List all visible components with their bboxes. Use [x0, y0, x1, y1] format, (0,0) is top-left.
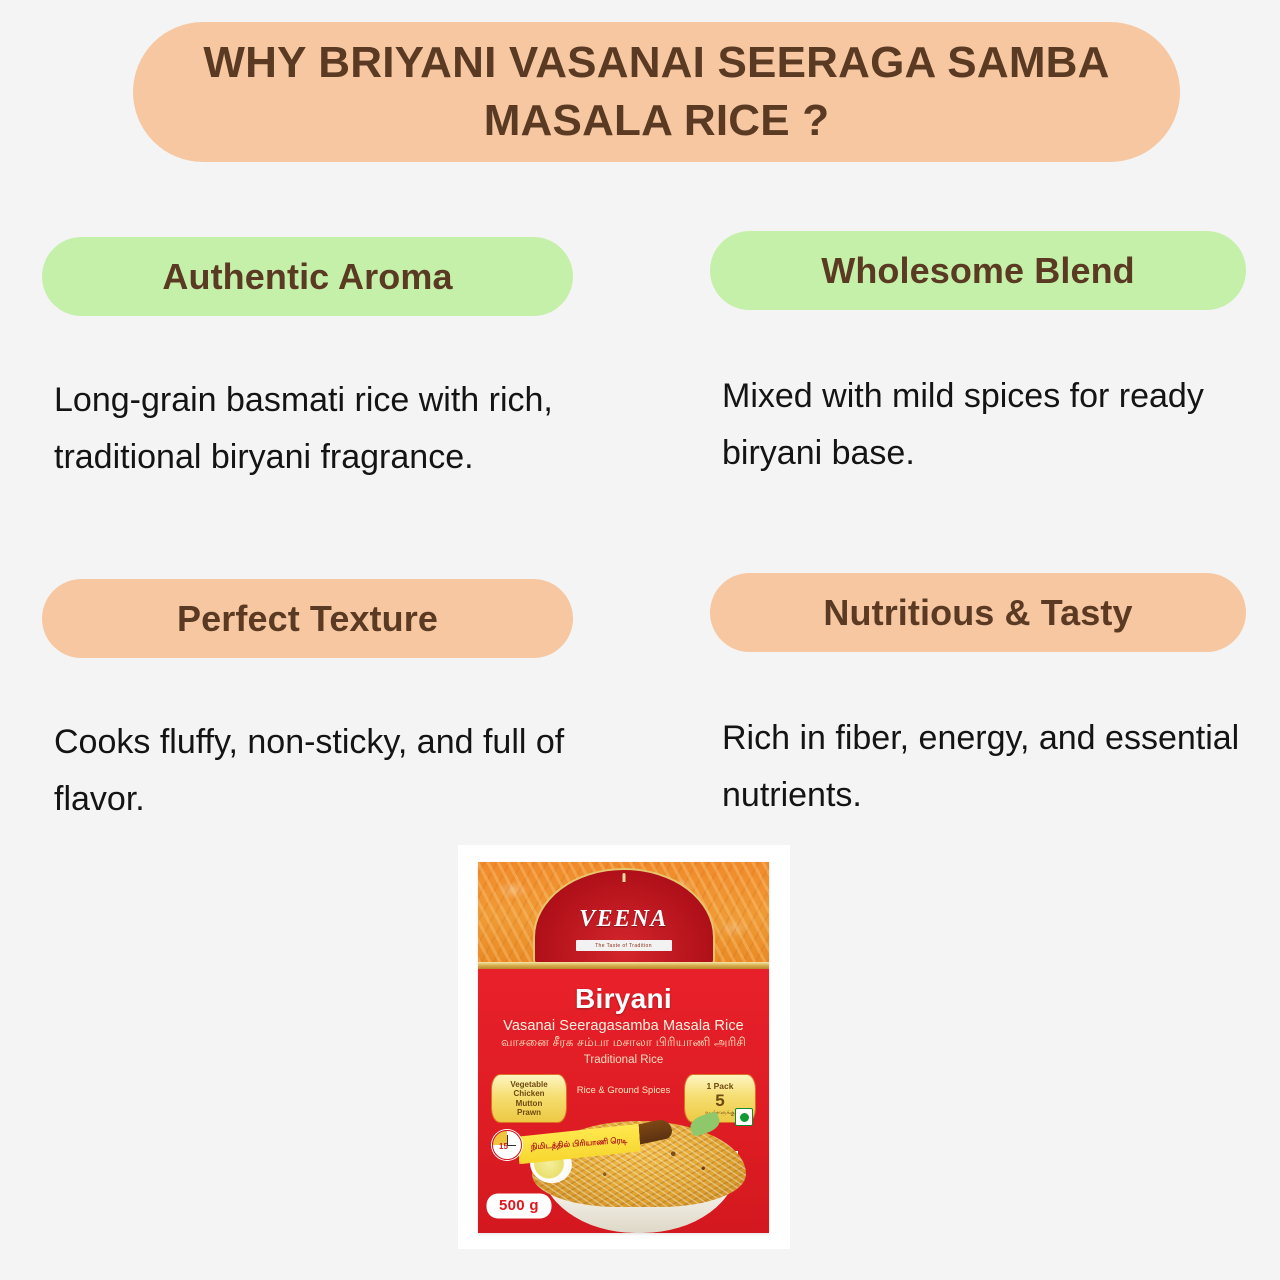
product-subtitle: Vasanai Seeragasamba Masala Rice — [478, 1018, 769, 1034]
feature-pill-nutritious-tasty: Nutritious & Tasty — [710, 573, 1246, 652]
vegetarian-mark-icon — [735, 1108, 753, 1126]
garnish-leaf — [688, 1111, 722, 1137]
clock-icon: 15 — [492, 1130, 522, 1160]
infographic-page: WHY BRIYANI VASANAI SEERAGA SAMBA MASALA… — [0, 0, 1280, 1280]
feature-label: Perfect Texture — [177, 598, 438, 640]
feature-card-perfect-texture: Perfect Texture Cooks fluffy, non-sticky… — [42, 579, 573, 828]
veg-dot-icon — [740, 1113, 749, 1122]
variant-item: Mutton — [516, 1099, 543, 1108]
product-package-image: VEENA The Taste of Tradition Biryani Vas… — [478, 862, 769, 1233]
product-subtitle-tamil: வாசனை சீரக சம்பா மசாலா பிரியாணி அரிசி — [478, 1035, 769, 1051]
arch-finial-icon — [622, 873, 625, 882]
page-title: WHY BRIYANI VASANAI SEERAGA SAMBA MASALA… — [133, 34, 1180, 150]
variant-item: Vegetable — [510, 1080, 547, 1089]
product-title: Biryani — [478, 983, 769, 1015]
brand-tagline: The Taste of Tradition — [576, 940, 672, 951]
feature-pill-perfect-texture: Perfect Texture — [42, 579, 573, 658]
feature-description: Mixed with mild spices for ready biryani… — [710, 368, 1246, 482]
feature-pill-authentic-aroma: Authentic Aroma — [42, 237, 573, 316]
serves-count: 5 — [715, 1092, 724, 1109]
feature-card-wholesome-blend: Wholesome Blend Mixed with mild spices f… — [710, 231, 1246, 482]
cooktime-banner-text: நிமிடத்தில் பிரியாணி ரெடி — [531, 1135, 628, 1152]
feature-description: Long-grain basmati rice with rich, tradi… — [42, 372, 573, 486]
net-weight-label: 500 g — [488, 1195, 550, 1217]
package-front-panel: Biryani Vasanai Seeragasamba Masala Rice… — [478, 969, 769, 1233]
feature-description: Cooks fluffy, non-sticky, and full of fl… — [42, 714, 573, 828]
feature-description: Rich in fiber, energy, and essential nut… — [710, 710, 1246, 824]
badge-contents: Rice & Ground Spices — [577, 1085, 670, 1097]
feature-label: Wholesome Blend — [821, 250, 1135, 292]
product-tagline: Traditional Rice — [478, 1054, 769, 1066]
serves-pack-label: 1 Pack — [707, 1081, 734, 1091]
feature-card-nutritious-tasty: Nutritious & Tasty Rich in fiber, energy… — [710, 573, 1246, 824]
feature-pill-wholesome-blend: Wholesome Blend — [710, 231, 1246, 310]
feature-label: Nutritious & Tasty — [823, 592, 1132, 634]
brand-logo: VEENA — [535, 906, 713, 933]
header-banner: WHY BRIYANI VASANAI SEERAGA SAMBA MASALA… — [133, 22, 1180, 162]
variant-item: Chicken — [513, 1089, 544, 1098]
clock-hand-hour-icon — [507, 1145, 516, 1146]
feature-label: Authentic Aroma — [162, 256, 452, 298]
feature-card-authentic-aroma: Authentic Aroma Long-grain basmati rice … — [42, 237, 573, 486]
package-gold-divider — [478, 962, 769, 969]
